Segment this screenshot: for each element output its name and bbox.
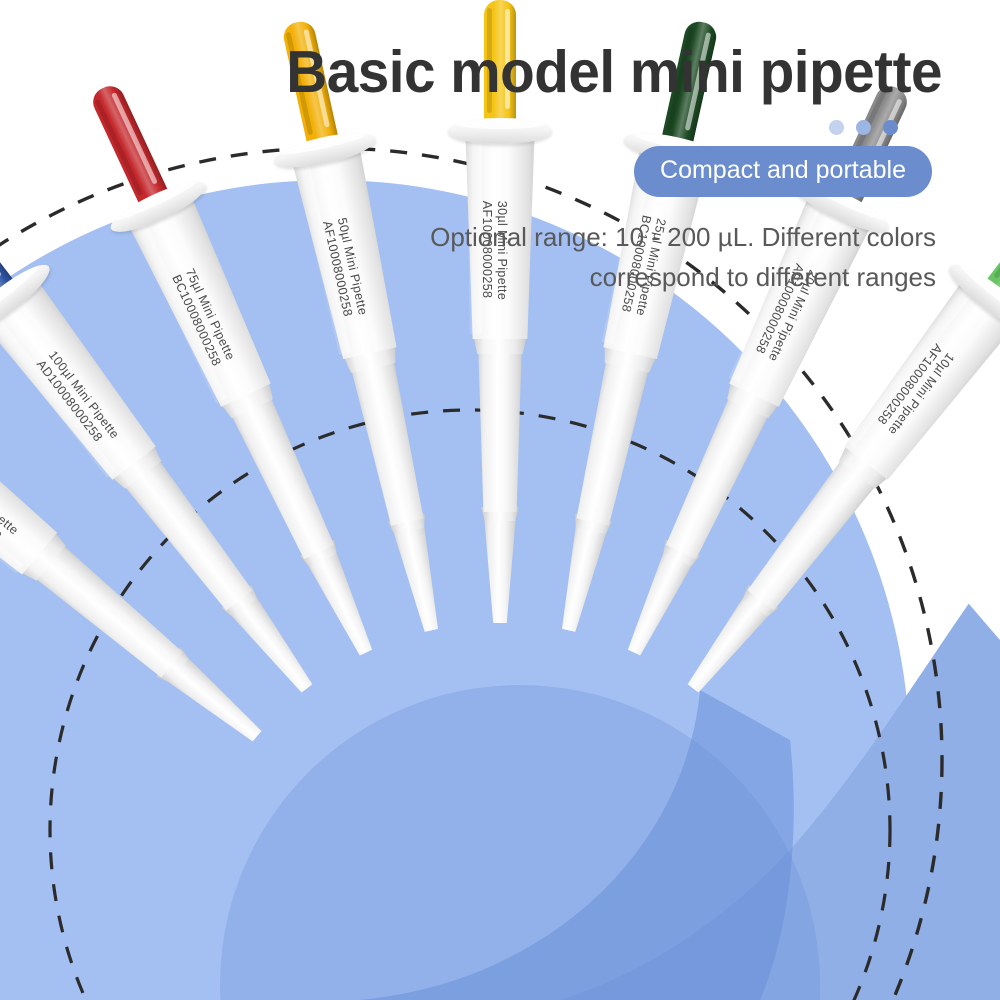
pager-dot-3 xyxy=(883,120,898,135)
pipette-barrel xyxy=(837,279,1000,485)
pipette-tip xyxy=(483,519,517,623)
subtitle-line-1: Optional range: 10 - 200 µL. Different c… xyxy=(430,222,936,252)
pager-dot-1 xyxy=(829,120,844,135)
pipette-shaft xyxy=(477,352,523,512)
subtitle-line-2: correspond to different ranges xyxy=(0,257,936,297)
feature-badge: Compact and portable xyxy=(634,146,932,197)
pipette-shaft xyxy=(660,397,769,561)
pipette-shaft xyxy=(742,460,876,615)
page-title: Basic model mini pipette xyxy=(38,42,942,104)
pipette-tip xyxy=(552,525,608,634)
pipette-barrel xyxy=(0,279,163,485)
pipette-tip xyxy=(392,525,448,634)
pipette-shaft xyxy=(350,361,430,527)
pager-dot-2 xyxy=(856,120,871,135)
product-banner: Basic model mini pipette Compact and por… xyxy=(0,0,1000,1000)
pipette-shaft xyxy=(570,361,650,527)
header: Basic model mini pipette Compact and por… xyxy=(0,0,1000,298)
subtitle: Optional range: 10 - 200 µL. Different c… xyxy=(0,217,942,298)
pager-dots xyxy=(0,120,942,135)
badge-row: Compact and portable xyxy=(0,146,942,197)
pipette-shaft xyxy=(231,397,340,561)
pipette-tip xyxy=(307,551,382,660)
